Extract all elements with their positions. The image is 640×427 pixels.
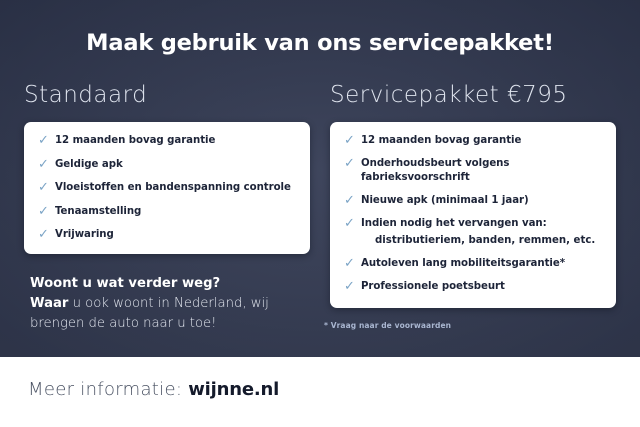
- promo-line-2: Waar u ook woont in Nederland, wij: [30, 294, 330, 314]
- check-icon: ✓: [344, 134, 357, 148]
- promo-line-2-rest: u ook woont in Nederland, wij: [68, 296, 268, 311]
- feature-sub-label: distributieriem, banden, remmen, etc.: [375, 234, 602, 248]
- more-info-text: Meer informatie: wijnne.nl: [28, 379, 279, 400]
- list-item: ✓ Nieuwe apk (minimaal 1 jaar): [344, 194, 602, 208]
- list-item: ✓ Tenaamstelling: [38, 205, 296, 219]
- promo-line-2-strong: Waar: [30, 296, 68, 311]
- check-icon: ✓: [38, 134, 51, 148]
- website-link[interactable]: wijnne.nl: [188, 379, 279, 400]
- feature-label: Onderhoudsbeurt volgens fabrieksvoorschr…: [361, 157, 602, 185]
- feature-label: 12 maanden bovag garantie: [55, 134, 215, 148]
- delivery-promo-text: Woont u wat verder weg? Waar u ook woont…: [30, 274, 330, 334]
- conditions-footnote: * Vraag naar de voorwaarden: [324, 321, 451, 330]
- feature-label: Tenaamstelling: [55, 205, 141, 219]
- list-item: ✓ Autoleven lang mobiliteitsgarantie*: [344, 257, 602, 271]
- list-item: ✓ Onderhoudsbeurt volgens fabrieksvoorsc…: [344, 157, 602, 185]
- standard-column-heading: Standaard: [24, 82, 147, 108]
- standard-feature-list: ✓ 12 maanden bovag garantie ✓ Geldige ap…: [24, 122, 310, 242]
- feature-label: Professionele poetsbeurt: [361, 280, 505, 294]
- feature-label: Vloeistoffen en bandenspanning controle: [55, 181, 291, 195]
- check-icon: ✓: [344, 257, 357, 271]
- list-item: ✓ 12 maanden bovag garantie: [38, 134, 296, 148]
- feature-label: Autoleven lang mobiliteitsgarantie*: [361, 257, 565, 271]
- service-package-card: ✓ 12 maanden bovag garantie ✓ Onderhouds…: [330, 122, 616, 308]
- page-title: Maak gebruik van ons servicepakket!: [0, 30, 640, 56]
- list-item: ✓ 12 maanden bovag garantie: [344, 134, 602, 148]
- check-icon: ✓: [38, 205, 51, 219]
- feature-label: Vrijwaring: [55, 228, 114, 242]
- list-item: ✓ Indien nodig het vervangen van:: [344, 217, 602, 231]
- list-item: ✓ Vloeistoffen en bandenspanning control…: [38, 181, 296, 195]
- promo-question: Woont u wat verder weg?: [30, 274, 330, 294]
- more-info-prefix: Meer informatie:: [28, 379, 188, 400]
- hero-section: Maak gebruik van ons servicepakket! Stan…: [0, 0, 640, 357]
- check-icon: ✓: [344, 280, 357, 294]
- check-icon: ✓: [344, 194, 357, 208]
- standard-package-card: ✓ 12 maanden bovag garantie ✓ Geldige ap…: [24, 122, 310, 254]
- list-item: ✓ Professionele poetsbeurt: [344, 280, 602, 294]
- service-package-banner: Maak gebruik van ons servicepakket! Stan…: [0, 0, 640, 427]
- feature-label: 12 maanden bovag garantie: [361, 134, 521, 148]
- check-icon: ✓: [38, 228, 51, 242]
- list-item: ✓ Vrijwaring: [38, 228, 296, 242]
- check-icon: ✓: [344, 217, 357, 231]
- check-icon: ✓: [38, 158, 51, 172]
- feature-label: Geldige apk: [55, 158, 123, 172]
- list-item: ✓ Geldige apk: [38, 158, 296, 172]
- service-feature-list: ✓ 12 maanden bovag garantie ✓ Onderhouds…: [330, 122, 616, 294]
- service-column-heading: Servicepakket €795: [330, 82, 568, 108]
- promo-line-3: brengen de auto naar u toe!: [30, 314, 330, 334]
- footer-bar: Meer informatie: wijnne.nl AUTOBEDRIJF W…: [0, 357, 640, 427]
- feature-label: Indien nodig het vervangen van:: [361, 217, 547, 231]
- check-icon: ✓: [344, 157, 357, 171]
- feature-label: Nieuwe apk (minimaal 1 jaar): [361, 194, 529, 208]
- check-icon: ✓: [38, 181, 51, 195]
